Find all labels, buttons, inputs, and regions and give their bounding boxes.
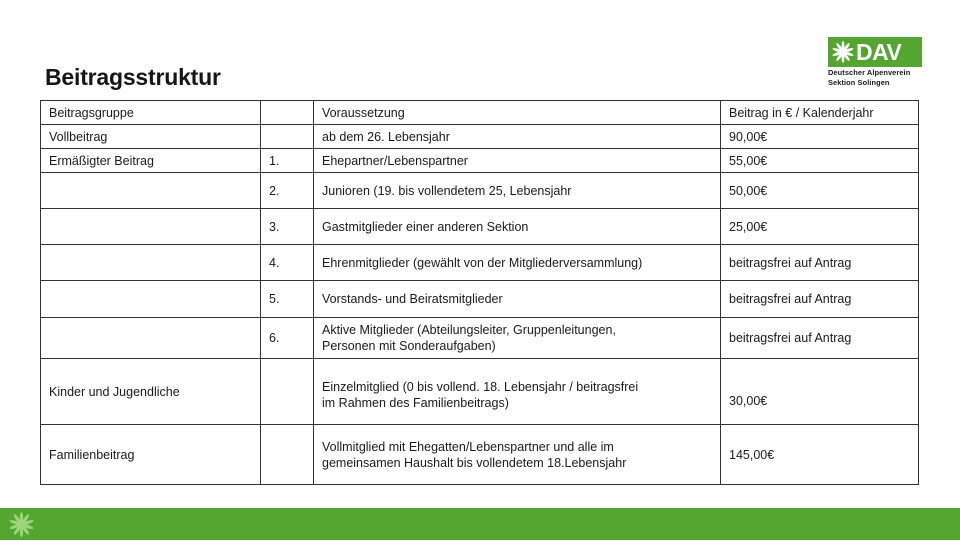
cell-group: Familienbeitrag: [41, 425, 261, 485]
cell-requirement: Aktive Mitglieder (Abteilungsleiter, Gru…: [314, 318, 721, 359]
cell-index: 3.: [261, 209, 314, 245]
footer-bar: [0, 508, 960, 540]
logo-subtitle-line2: Sektion Solingen: [828, 78, 922, 87]
cell-fee: beitragsfrei auf Antrag: [721, 245, 919, 281]
cell-requirement: Gastmitglieder einer anderen Sektion: [314, 209, 721, 245]
cell-group: [41, 318, 261, 359]
table-row: 2. Junioren (19. bis vollendetem 25, Leb…: [41, 173, 919, 209]
cell-fee: beitragsfrei auf Antrag: [721, 281, 919, 318]
page-title: Beitragsstruktur: [45, 64, 221, 91]
cell-fee: 55,00€: [721, 149, 919, 173]
cell-index: [261, 425, 314, 485]
cell-requirement: Ehrenmitglieder (gewählt von der Mitglie…: [314, 245, 721, 281]
header-cell-group: Beitragsgruppe: [41, 101, 261, 125]
cell-group: Vollbeitrag: [41, 125, 261, 149]
cell-index: [261, 125, 314, 149]
table-row: 4. Ehrenmitglieder (gewählt von der Mitg…: [41, 245, 919, 281]
cell-index: 4.: [261, 245, 314, 281]
cell-index: 6.: [261, 318, 314, 359]
dav-logo-mark: DAV: [828, 37, 922, 67]
cell-group: [41, 209, 261, 245]
dav-logo: DAV Deutscher Alpenverein Sektion Soling…: [828, 37, 922, 87]
header-cell-index: [261, 101, 314, 125]
cell-requirement: ab dem 26. Lebensjahr: [314, 125, 721, 149]
cell-group: [41, 173, 261, 209]
cell-fee: beitragsfrei auf Antrag: [721, 318, 919, 359]
cell-group: [41, 281, 261, 318]
table-row: Vollbeitrag ab dem 26. Lebensjahr 90,00€: [41, 125, 919, 149]
logo-subtitle-line1: Deutscher Alpenverein: [828, 68, 922, 77]
cell-group: Ermäßigter Beitrag: [41, 149, 261, 173]
cell-fee: 25,00€: [721, 209, 919, 245]
cell-index: 2.: [261, 173, 314, 209]
cell-fee: 145,00€: [721, 425, 919, 485]
dav-wordmark: DAV: [856, 41, 901, 64]
table-row: Kinder und Jugendliche Einzelmitglied (0…: [41, 359, 919, 425]
cell-fee: 90,00€: [721, 125, 919, 149]
cell-fee: 50,00€: [721, 173, 919, 209]
cell-requirement: Vollmitglied mit Ehegatten/Lebenspartner…: [314, 425, 721, 485]
edelweiss-icon: [832, 41, 854, 63]
table-row: Familienbeitrag Vollmitglied mit Ehegatt…: [41, 425, 919, 485]
cell-index: [261, 359, 314, 425]
edelweiss-icon: [9, 512, 34, 537]
cell-group: Kinder und Jugendliche: [41, 359, 261, 425]
table-row: 5. Vorstands- und Beiratsmitglieder beit…: [41, 281, 919, 318]
header-cell-requirement: Voraussetzung: [314, 101, 721, 125]
cell-index: 1.: [261, 149, 314, 173]
fee-structure-table: Beitragsgruppe Voraussetzung Beitrag in …: [40, 100, 919, 485]
cell-requirement: Junioren (19. bis vollendetem 25, Lebens…: [314, 173, 721, 209]
table-row: 6. Aktive Mitglieder (Abteilungsleiter, …: [41, 318, 919, 359]
cell-requirement: Vorstands- und Beiratsmitglieder: [314, 281, 721, 318]
header-cell-fee: Beitrag in € / Kalenderjahr: [721, 101, 919, 125]
cell-group: [41, 245, 261, 281]
cell-fee: 30,00€: [721, 368, 919, 434]
cell-requirement: Ehepartner/Lebenspartner: [314, 149, 721, 173]
cell-index: 5.: [261, 281, 314, 318]
table-row: 3. Gastmitglieder einer anderen Sektion …: [41, 209, 919, 245]
table-row: Ermäßigter Beitrag 1. Ehepartner/Lebensp…: [41, 149, 919, 173]
table-header-row: Beitragsgruppe Voraussetzung Beitrag in …: [41, 101, 919, 125]
cell-requirement: Einzelmitglied (0 bis vollend. 18. Leben…: [314, 362, 721, 428]
